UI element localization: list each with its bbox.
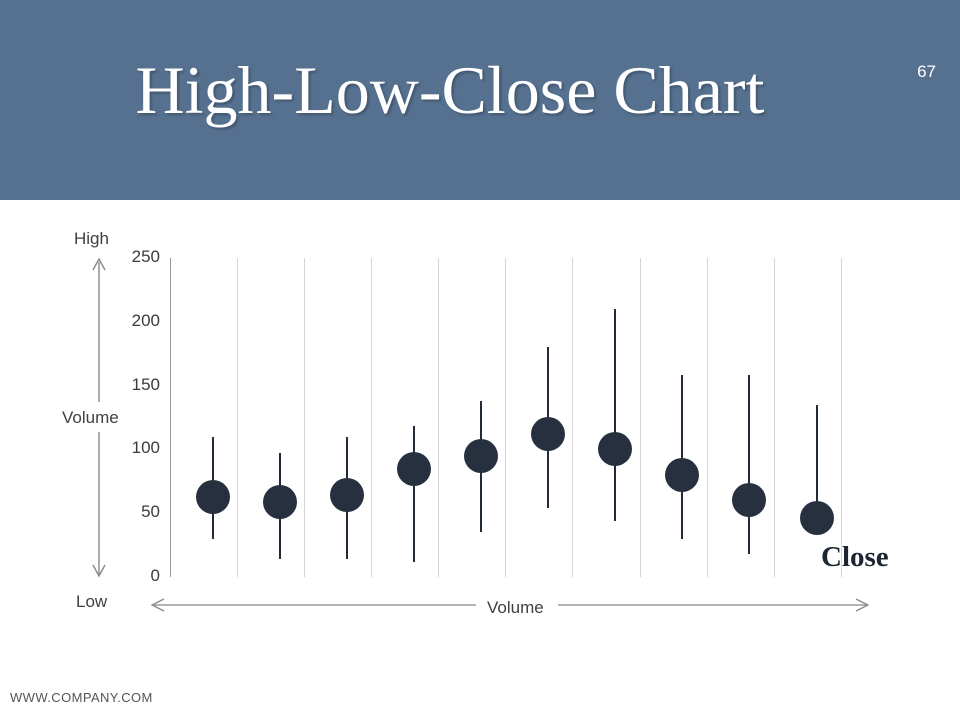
vertical-range-arrow-icon <box>86 250 112 585</box>
close-marker <box>598 432 632 466</box>
y-axis-tick-label: 0 <box>116 566 160 586</box>
plot-region <box>170 258 885 577</box>
gridline <box>371 258 372 577</box>
hlc-wick <box>614 309 616 521</box>
axis-label-low: Low <box>76 592 107 612</box>
horizontal-range-arrow-icon <box>140 590 880 620</box>
chart-canvas: High Low Volume Volume 250200150100500 C… <box>0 200 960 720</box>
close-marker <box>263 485 297 519</box>
footer-website: WWW.COMPANY.COM <box>10 690 153 705</box>
hlc-wick <box>413 426 415 561</box>
y-axis-tick-label: 250 <box>116 247 160 267</box>
gridline <box>707 258 708 577</box>
gridline <box>505 258 506 577</box>
gridline <box>841 258 842 577</box>
close-marker <box>464 439 498 473</box>
y-axis-tick-label: 100 <box>116 438 160 458</box>
page-number: 67 <box>917 62 936 82</box>
y-axis-tick-label: 200 <box>116 311 160 331</box>
page-title: High-Low-Close Chart <box>0 52 900 128</box>
y-axis-ticks: 250200150100500 <box>110 200 160 600</box>
hlc-wick <box>748 375 750 554</box>
y-axis-tick-label: 50 <box>116 502 160 522</box>
gridline <box>774 258 775 577</box>
close-marker <box>330 478 364 512</box>
y-axis-tick-label: 150 <box>116 375 160 395</box>
close-marker <box>665 458 699 492</box>
close-callout-label: Close <box>821 541 889 574</box>
gridline <box>304 258 305 577</box>
axis-label-high: High <box>74 229 109 249</box>
close-marker <box>196 480 230 514</box>
gridline <box>640 258 641 577</box>
y-axis-line <box>170 258 171 577</box>
close-marker <box>732 483 766 517</box>
gridline <box>572 258 573 577</box>
close-marker <box>397 452 431 486</box>
close-marker <box>531 417 565 451</box>
gridline <box>438 258 439 577</box>
close-marker <box>800 501 834 535</box>
gridline <box>237 258 238 577</box>
